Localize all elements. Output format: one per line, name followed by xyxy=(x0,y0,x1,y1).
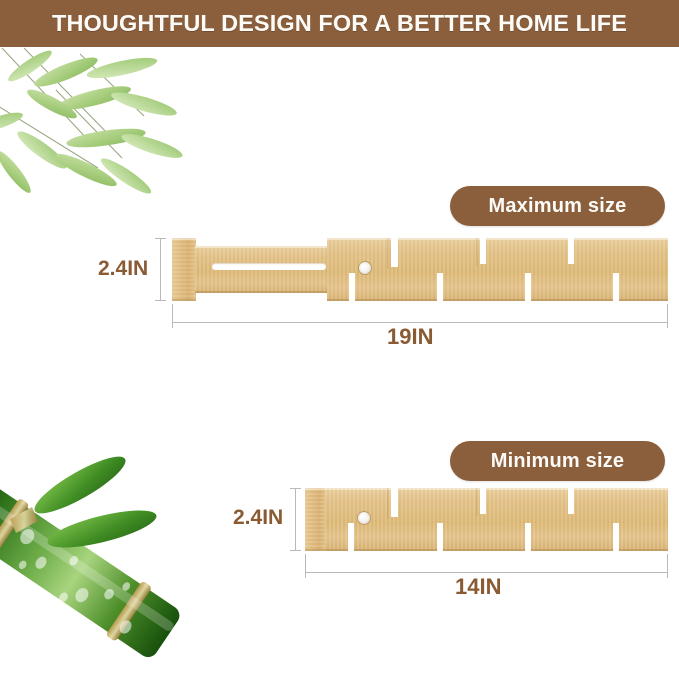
cap-top-edge xyxy=(305,488,326,490)
dim-tick-left-max xyxy=(172,304,173,328)
divider-end-cap-left xyxy=(305,488,326,551)
divider-notch-bottom xyxy=(525,273,531,301)
cap-bottom-edge xyxy=(172,299,196,301)
dim-tick-bottom-min xyxy=(290,550,301,551)
dim-line-horizontal-min xyxy=(305,572,668,573)
divider-groove xyxy=(476,238,478,266)
drawer-divider-expanded xyxy=(172,238,668,301)
divider-notch-top xyxy=(480,488,486,514)
divider-notch-bottom xyxy=(349,273,355,301)
arm-bottom-edge xyxy=(195,291,331,293)
badge-maximum-size-label: Maximum size xyxy=(488,195,626,218)
divider-release-button xyxy=(358,512,370,524)
divider-notch-top xyxy=(568,238,574,264)
bamboo-leaves-illustration xyxy=(0,46,209,206)
page-title: THOUGHTFUL DESIGN FOR A BETTER HOME LIFE xyxy=(52,10,627,37)
divider-notch-bottom xyxy=(437,523,443,551)
divider-notch-top xyxy=(391,238,398,267)
divider-notch-bottom xyxy=(613,523,619,551)
body-top-edge xyxy=(325,488,668,490)
divider-notch-bottom xyxy=(348,523,354,551)
dim-tick-bottom-max xyxy=(155,300,166,301)
divider-release-button xyxy=(359,262,371,274)
divider-groove xyxy=(476,488,478,516)
divider-notch-top xyxy=(391,488,398,517)
dim-tick-left-min xyxy=(305,554,306,578)
divider-notch-bottom xyxy=(525,523,531,551)
divider-main-body xyxy=(325,488,668,551)
arm-top-edge xyxy=(195,246,331,248)
cap-bottom-edge xyxy=(305,549,326,551)
badge-minimum-size: Minimum size xyxy=(450,441,665,481)
cap-top-edge xyxy=(172,238,196,240)
dim-label-length-max: 19IN xyxy=(387,324,433,350)
dim-tick-top-min xyxy=(290,488,301,489)
dim-label-length-min: 14IN xyxy=(455,574,501,600)
body-top-edge xyxy=(327,238,668,240)
dim-line-vertical-min xyxy=(295,488,296,551)
infographic-canvas: THOUGHTFUL DESIGN FOR A BETTER HOME LIFE xyxy=(0,0,679,679)
divider-notch-bottom xyxy=(437,273,443,301)
bamboo-stalk-icon xyxy=(0,425,227,679)
bamboo-leaves-icon xyxy=(0,46,209,206)
dim-line-vertical-max xyxy=(160,238,161,301)
divider-notch-bottom xyxy=(613,273,619,301)
dim-line-horizontal-max xyxy=(172,322,668,323)
divider-end-cap-left xyxy=(172,238,196,301)
dim-tick-right-max xyxy=(667,304,668,328)
divider-main-body xyxy=(327,238,668,301)
badge-maximum-size: Maximum size xyxy=(450,186,665,226)
badge-minimum-size-label: Minimum size xyxy=(491,450,625,473)
divider-notch-top xyxy=(568,488,574,514)
dim-tick-top-max xyxy=(155,238,166,239)
dim-label-height-max: 2.4IN xyxy=(98,257,148,281)
bamboo-stalk-photo xyxy=(0,425,227,679)
dim-tick-right-min xyxy=(667,554,668,578)
header-banner: THOUGHTFUL DESIGN FOR A BETTER HOME LIFE xyxy=(0,0,679,47)
divider-groove xyxy=(387,238,389,269)
divider-notch-top xyxy=(480,238,486,264)
drawer-divider-collapsed xyxy=(305,488,668,551)
divider-arm-slot xyxy=(212,263,326,270)
divider-groove xyxy=(387,488,389,519)
dim-label-height-min: 2.4IN xyxy=(233,506,283,530)
